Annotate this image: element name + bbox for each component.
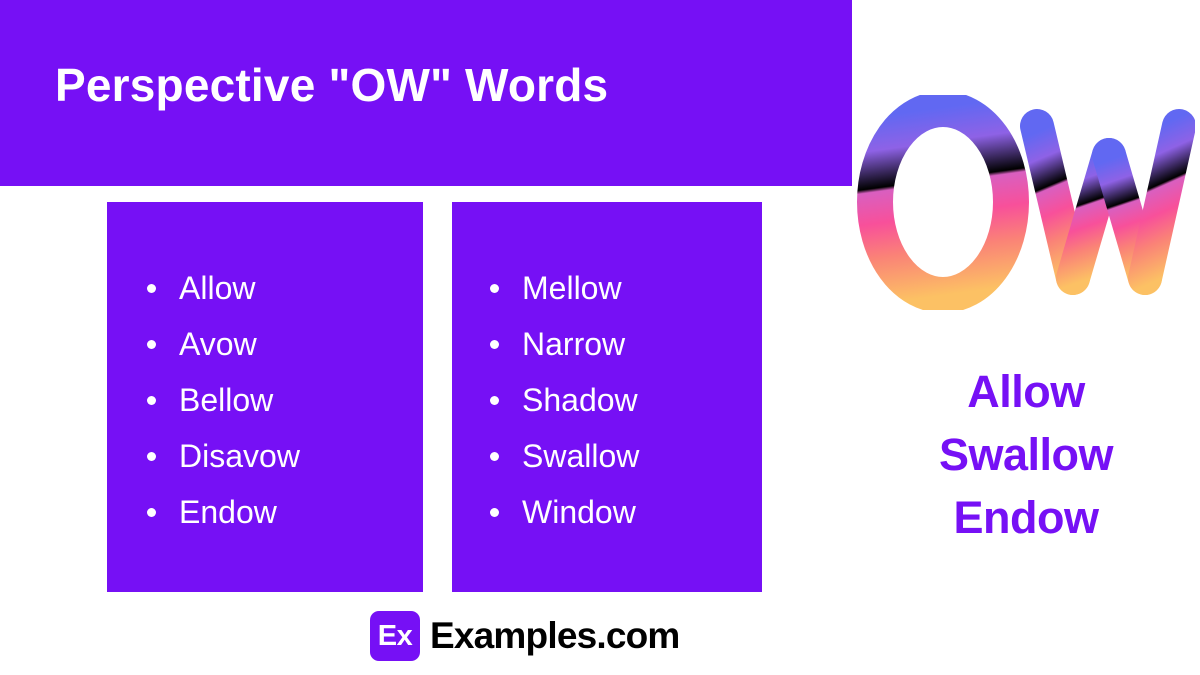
bullet-icon	[490, 396, 499, 405]
list-item: Endow	[147, 484, 300, 540]
bullet-icon	[147, 284, 156, 293]
right-word-box: Mellow Narrow Shadow Swallow Window	[452, 202, 762, 592]
word-label: Window	[522, 494, 636, 531]
brand-logo[interactable]: Ex Examples.com	[370, 611, 680, 661]
list-item: Mellow	[490, 260, 639, 316]
header-band: Perspective "OW" Words	[0, 0, 852, 186]
bullet-icon	[490, 508, 499, 517]
examples-badge-icon: Ex	[370, 611, 420, 661]
bullet-icon	[490, 284, 499, 293]
right-panel: Allow Swallow Endow	[852, 0, 1200, 675]
bullet-icon	[147, 508, 156, 517]
feature-word: Endow	[852, 486, 1200, 549]
word-label: Bellow	[179, 382, 273, 419]
brand-name-label: Examples.com	[430, 615, 680, 657]
feature-word-list: Allow Swallow Endow	[852, 360, 1200, 549]
word-label: Swallow	[522, 438, 639, 475]
list-item: Shadow	[490, 372, 639, 428]
list-item: Avow	[147, 316, 300, 372]
list-item: Bellow	[147, 372, 300, 428]
word-label: Allow	[179, 270, 255, 307]
left-word-list: Allow Avow Bellow Disavow Endow	[147, 260, 300, 540]
word-label: Disavow	[179, 438, 300, 475]
bullet-icon	[490, 452, 499, 461]
word-label: Shadow	[522, 382, 638, 419]
ow-gradient-logo-icon	[857, 95, 1195, 310]
list-item: Allow	[147, 260, 300, 316]
word-label: Avow	[179, 326, 257, 363]
right-word-list: Mellow Narrow Shadow Swallow Window	[490, 260, 639, 540]
list-item: Narrow	[490, 316, 639, 372]
word-label: Endow	[179, 494, 277, 531]
list-item: Swallow	[490, 428, 639, 484]
page-title: Perspective "OW" Words	[55, 58, 608, 112]
bullet-icon	[147, 452, 156, 461]
bullet-icon	[147, 396, 156, 405]
list-item: Disavow	[147, 428, 300, 484]
infographic-page: Perspective "OW" Words Allow Avow Bellow…	[0, 0, 1200, 675]
list-item: Window	[490, 484, 639, 540]
word-label: Narrow	[522, 326, 625, 363]
left-word-box: Allow Avow Bellow Disavow Endow	[107, 202, 423, 592]
bullet-icon	[147, 340, 156, 349]
bullet-icon	[490, 340, 499, 349]
feature-word: Allow	[852, 360, 1200, 423]
feature-word: Swallow	[852, 423, 1200, 486]
word-label: Mellow	[522, 270, 622, 307]
